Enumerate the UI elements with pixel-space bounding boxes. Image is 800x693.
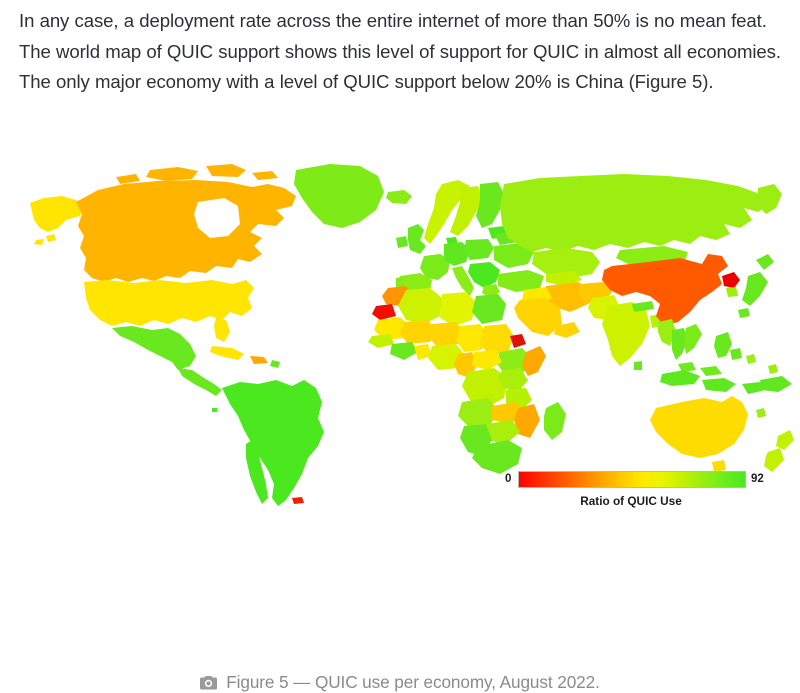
article-paragraph: In any case, a deployment rate across th… xyxy=(19,6,787,98)
region-ireland xyxy=(396,236,408,248)
legend-title: Ratio of QUIC Use xyxy=(505,494,775,508)
region-south-korea xyxy=(726,287,738,297)
figure-quic-map: 0 92 Ratio of QUIC Use Figure 5 — QUIC u… xyxy=(0,140,800,512)
legend-min-label: 0 xyxy=(505,474,518,486)
region-sri-lanka xyxy=(634,361,642,370)
figure-caption: Figure 5 — QUIC use per economy, August … xyxy=(0,672,800,693)
legend-max-label: 92 xyxy=(746,474,775,486)
region-falkland-islands xyxy=(292,497,304,504)
map-legend: 0 92 Ratio of QUIC Use xyxy=(505,471,775,511)
world-map: 0 92 Ratio of QUIC Use xyxy=(0,140,800,512)
camera-icon xyxy=(200,675,217,690)
world-map-svg xyxy=(0,140,800,512)
legend-gradient-bar xyxy=(518,471,746,488)
region-galapagos xyxy=(212,408,217,412)
figure-caption-text: Figure 5 — QUIC use per economy, August … xyxy=(226,672,600,693)
legend-scale-row: 0 92 xyxy=(505,471,775,488)
article-body: In any case, a deployment rate across th… xyxy=(19,6,787,98)
